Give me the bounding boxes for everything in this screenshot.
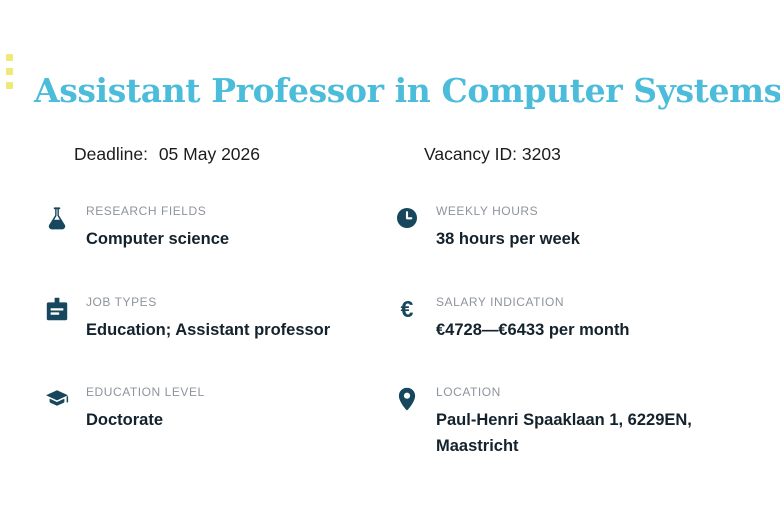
detail-label: LOCATION bbox=[436, 384, 722, 400]
detail-text-block: SALARY INDICATION €4728—€6433 per month bbox=[436, 294, 630, 343]
vacancy-meta-row: Deadline: 05 May 2026 Vacancy ID: 3203 bbox=[0, 140, 780, 170]
deadline-value: 05 May 2026 bbox=[159, 144, 260, 164]
detail-value: Paul-Henri Spaaklaan 1, 6229EN, Maastric… bbox=[436, 407, 722, 459]
vacancy-id-label: Vacancy ID: bbox=[424, 144, 517, 164]
detail-salary-indication: € SALARY INDICATION €4728—€6433 per mont… bbox=[394, 294, 724, 343]
detail-label: JOB TYPES bbox=[86, 294, 330, 310]
dotted-strip-icon bbox=[6, 54, 13, 89]
detail-weekly-hours: WEEKLY HOURS 38 hours per week bbox=[394, 203, 724, 252]
graduation-cap-icon bbox=[44, 386, 70, 412]
briefcase-icon bbox=[44, 296, 70, 322]
euro-glyph: € bbox=[401, 296, 414, 322]
detail-location: LOCATION Paul-Henri Spaaklaan 1, 6229EN,… bbox=[394, 384, 724, 459]
detail-value: Education; Assistant professor bbox=[86, 317, 330, 343]
map-pin-icon bbox=[394, 386, 420, 412]
flask-icon bbox=[44, 205, 70, 231]
vacancy-id-info: Vacancy ID: 3203 bbox=[424, 140, 561, 168]
detail-text-block: RESEARCH FIELDS Computer science bbox=[86, 203, 229, 252]
detail-research-fields: RESEARCH FIELDS Computer science bbox=[44, 203, 374, 252]
deadline-label: Deadline: bbox=[74, 144, 148, 164]
dot-icon bbox=[6, 54, 13, 61]
detail-text-block: LOCATION Paul-Henri Spaaklaan 1, 6229EN,… bbox=[436, 384, 722, 459]
detail-text-block: EDUCATION LEVEL Doctorate bbox=[86, 384, 205, 433]
vacancy-detail-page: Assistant Professor in Computer Systems … bbox=[0, 0, 780, 520]
clock-icon bbox=[394, 205, 420, 231]
page-title: Assistant Professor in Computer Systems bbox=[34, 70, 780, 112]
detail-value: Doctorate bbox=[86, 407, 205, 433]
dot-icon bbox=[6, 82, 13, 89]
deadline-info: Deadline: 05 May 2026 bbox=[74, 140, 260, 168]
vacancy-id-value: 3203 bbox=[522, 144, 561, 164]
detail-education-level: EDUCATION LEVEL Doctorate bbox=[44, 384, 374, 433]
detail-label: EDUCATION LEVEL bbox=[86, 384, 205, 400]
euro-icon: € bbox=[394, 296, 420, 322]
detail-value: 38 hours per week bbox=[436, 226, 580, 252]
detail-text-block: JOB TYPES Education; Assistant professor bbox=[86, 294, 330, 343]
detail-label: RESEARCH FIELDS bbox=[86, 203, 229, 219]
dot-icon bbox=[6, 68, 13, 75]
detail-label: WEEKLY HOURS bbox=[436, 203, 580, 219]
detail-value: Computer science bbox=[86, 226, 229, 252]
detail-label: SALARY INDICATION bbox=[436, 294, 630, 310]
detail-value: €4728—€6433 per month bbox=[436, 317, 630, 343]
detail-text-block: WEEKLY HOURS 38 hours per week bbox=[436, 203, 580, 252]
detail-job-types: JOB TYPES Education; Assistant professor bbox=[44, 294, 374, 343]
